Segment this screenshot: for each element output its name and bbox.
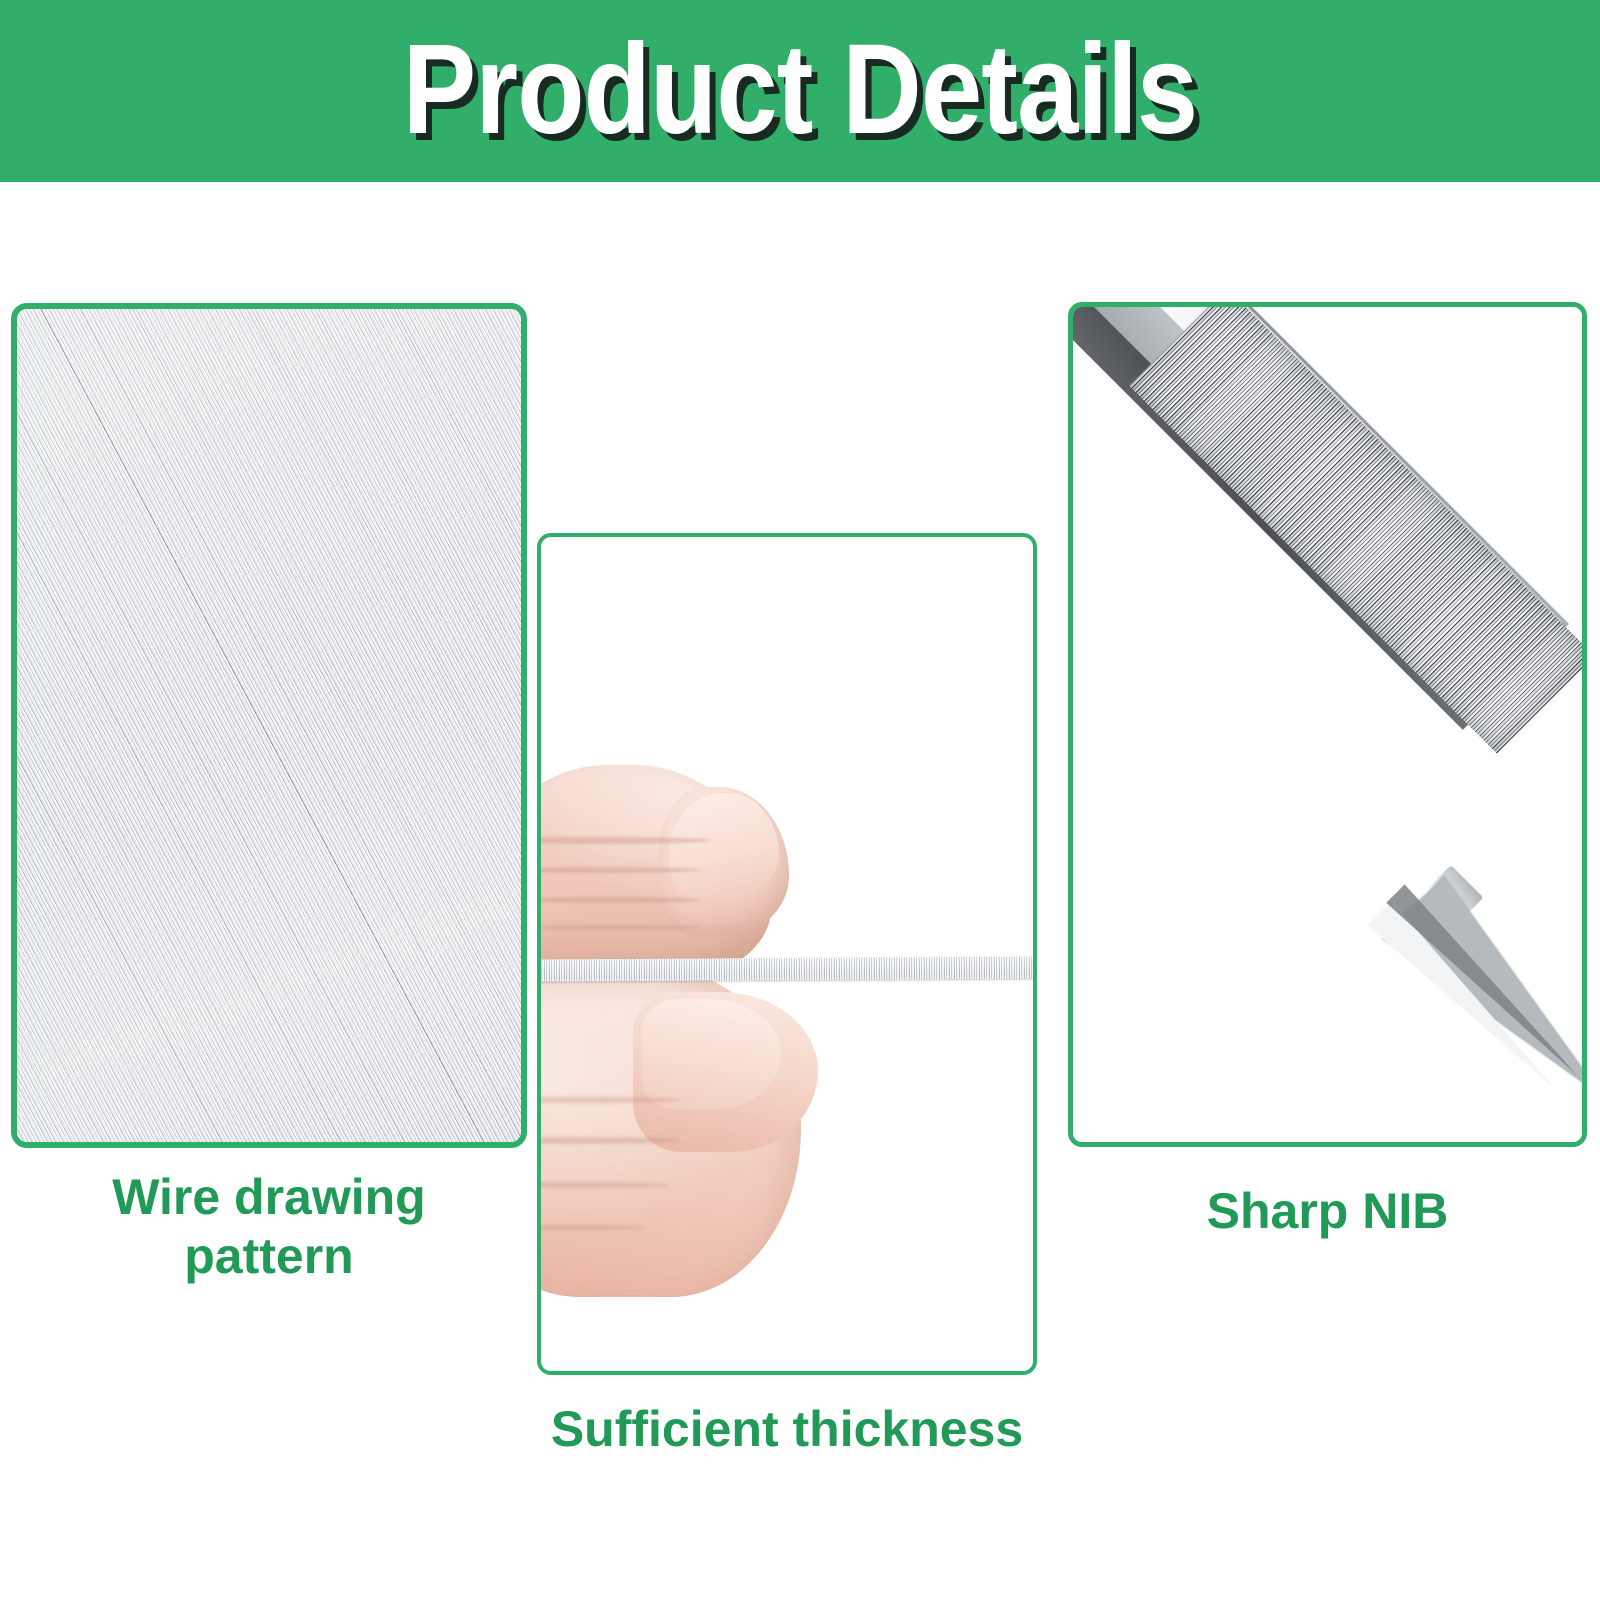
caption-thickness: Sufficient thickness <box>477 1400 1097 1459</box>
panel-sharp-nib <box>1068 302 1587 1147</box>
panel-wire-drawing <box>11 303 527 1148</box>
page-title: Product Details <box>112 6 1488 174</box>
header-banner: Product Details <box>0 0 1600 182</box>
nib-knurled-barrel <box>1129 302 1587 753</box>
thin-metal-sheet <box>537 956 1037 981</box>
caption-wire-drawing: Wire drawing pattern <box>11 1168 527 1286</box>
panel-thickness <box>537 533 1037 1375</box>
nib-tip-shadow <box>1386 884 1587 1085</box>
upper-finger-crease <box>537 925 701 930</box>
pen-nib-image <box>1073 307 1582 1142</box>
fingers-holding-sheet-image <box>541 537 1033 1371</box>
upper-fingernail <box>669 793 779 901</box>
brushed-metal-texture-image <box>11 303 527 1148</box>
caption-sharp-nib: Sharp NIB <box>1068 1182 1587 1241</box>
lower-fingernail <box>641 999 781 1109</box>
